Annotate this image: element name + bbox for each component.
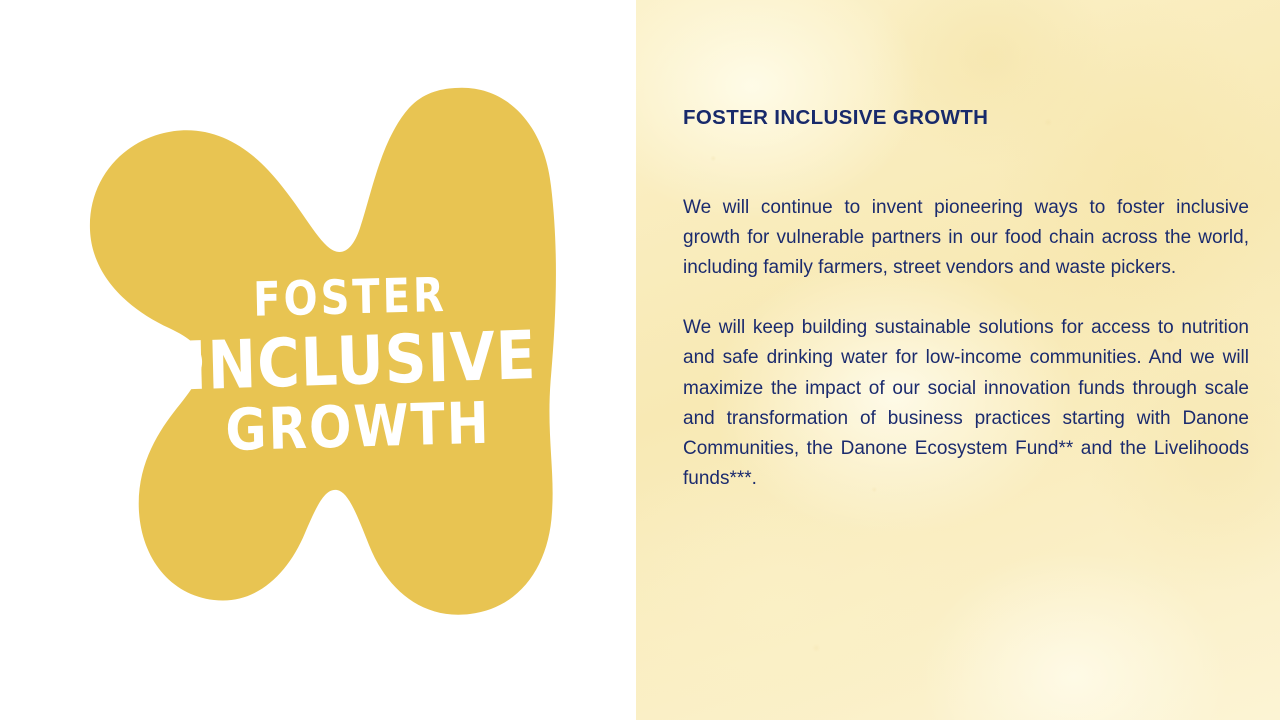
body-text: We will continue to invent pioneering wa… [683, 193, 1248, 495]
slide-root: FOSTER INCLUSIVE GROWTH FOSTER INCLUSIVE… [0, 0, 1280, 720]
paragraph-2: We will keep building sustainable soluti… [683, 313, 1249, 494]
paragraph-1: We will continue to invent pioneering wa… [683, 193, 1249, 284]
blob-shape [90, 88, 556, 615]
content-column: FOSTER INCLUSIVE GROWTH We will continue… [636, 0, 1280, 494]
section-heading: FOSTER INCLUSIVE GROWTH [683, 106, 1248, 131]
right-text-panel: FOSTER INCLUSIVE GROWTH We will continue… [636, 0, 1280, 720]
blob-graphic [0, 0, 636, 720]
left-graphic-panel: FOSTER INCLUSIVE GROWTH [0, 0, 636, 720]
